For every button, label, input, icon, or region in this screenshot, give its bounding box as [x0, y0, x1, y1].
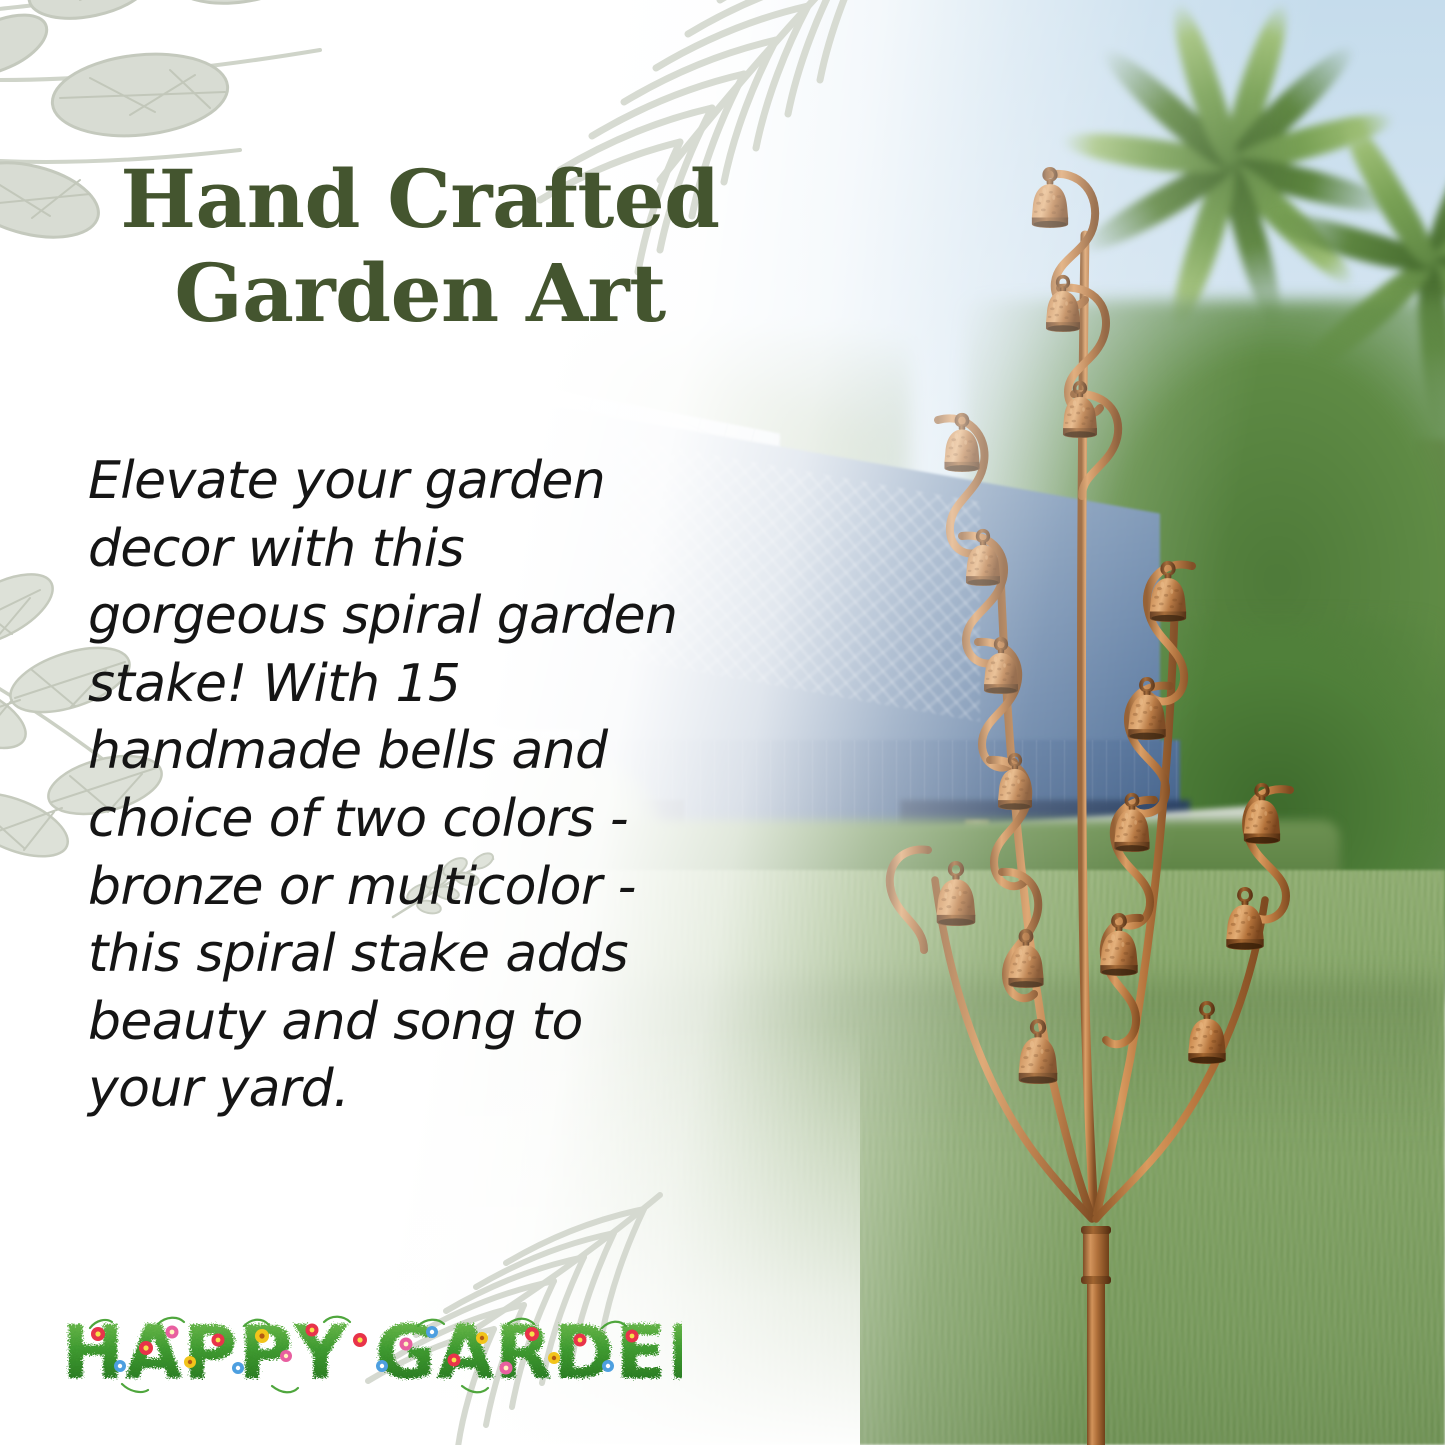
headline-line-2: Garden Art: [70, 246, 770, 340]
logo-text: HAPPY GARDENS: [62, 1310, 682, 1396]
product-description: Elevate your garden decor with this gorg…: [88, 448, 688, 1124]
headline-line-1: Hand Crafted: [70, 152, 770, 246]
marketing-graphic: Hand Crafted Garden Art Elevate your gar…: [0, 0, 1445, 1445]
brand-logo: HAPPY GARDENS: [62, 1310, 682, 1398]
page-title: Hand Crafted Garden Art: [70, 152, 770, 341]
